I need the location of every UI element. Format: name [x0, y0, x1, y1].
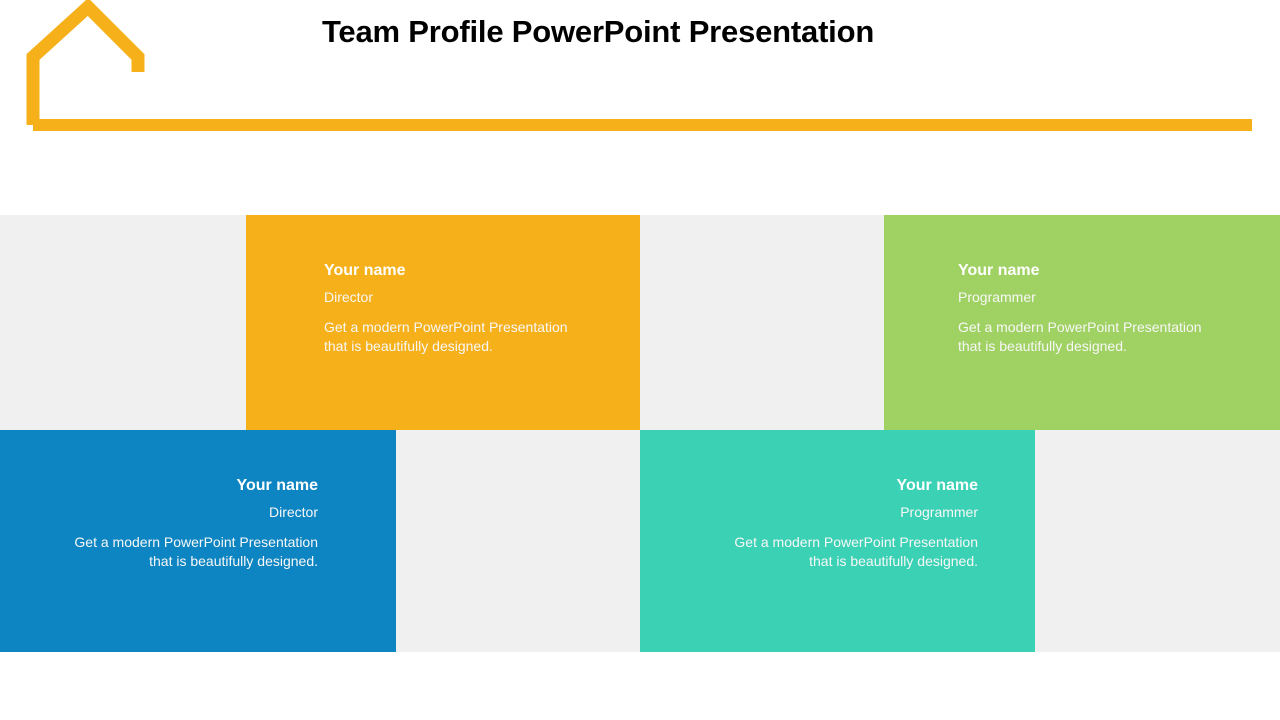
profile-name: Your name: [718, 477, 978, 495]
profile-name: Your name: [58, 477, 318, 495]
profile-description: Get a modern PowerPoint Presentation tha…: [324, 318, 584, 356]
profile-description: Get a modern PowerPoint Presentation tha…: [718, 533, 978, 571]
profile-card-orange[interactable]: Your name Director Get a modern PowerPoi…: [246, 215, 640, 430]
spacer-band-bottom-middle: [396, 430, 640, 652]
profile-role: Director: [58, 504, 318, 520]
page-title: Team Profile PowerPoint Presentation: [322, 14, 1022, 50]
spacer-band-bottom-right: [1035, 430, 1280, 652]
profile-description: Get a modern PowerPoint Presentation tha…: [58, 533, 318, 571]
slide-header: Team Profile PowerPoint Presentation: [0, 0, 1280, 200]
profile-card-blue-content: Your name Director Get a modern PowerPoi…: [58, 477, 318, 571]
spacer-band-top-left: [0, 215, 246, 430]
profile-name: Your name: [324, 262, 584, 280]
profile-role: Programmer: [718, 504, 978, 520]
profile-card-teal-content: Your name Programmer Get a modern PowerP…: [718, 477, 978, 571]
spacer-band-top-middle: [640, 215, 884, 430]
slide-canvas: Team Profile PowerPoint Presentation You…: [0, 0, 1280, 720]
profile-card-green[interactable]: Your name Programmer Get a modern PowerP…: [884, 215, 1280, 430]
profile-card-blue[interactable]: Your name Director Get a modern PowerPoi…: [0, 430, 396, 652]
profile-name: Your name: [958, 262, 1218, 280]
profile-role: Programmer: [958, 289, 1218, 305]
profile-card-teal[interactable]: Your name Programmer Get a modern PowerP…: [640, 430, 1035, 652]
profile-description: Get a modern PowerPoint Presentation tha…: [958, 318, 1218, 356]
profile-card-orange-content: Your name Director Get a modern PowerPoi…: [324, 262, 584, 356]
profile-role: Director: [324, 289, 584, 305]
profile-row-bottom: Your name Director Get a modern PowerPoi…: [0, 430, 1280, 652]
profile-row-top: Your name Director Get a modern PowerPoi…: [0, 215, 1280, 430]
profile-card-green-content: Your name Programmer Get a modern PowerP…: [958, 262, 1218, 356]
